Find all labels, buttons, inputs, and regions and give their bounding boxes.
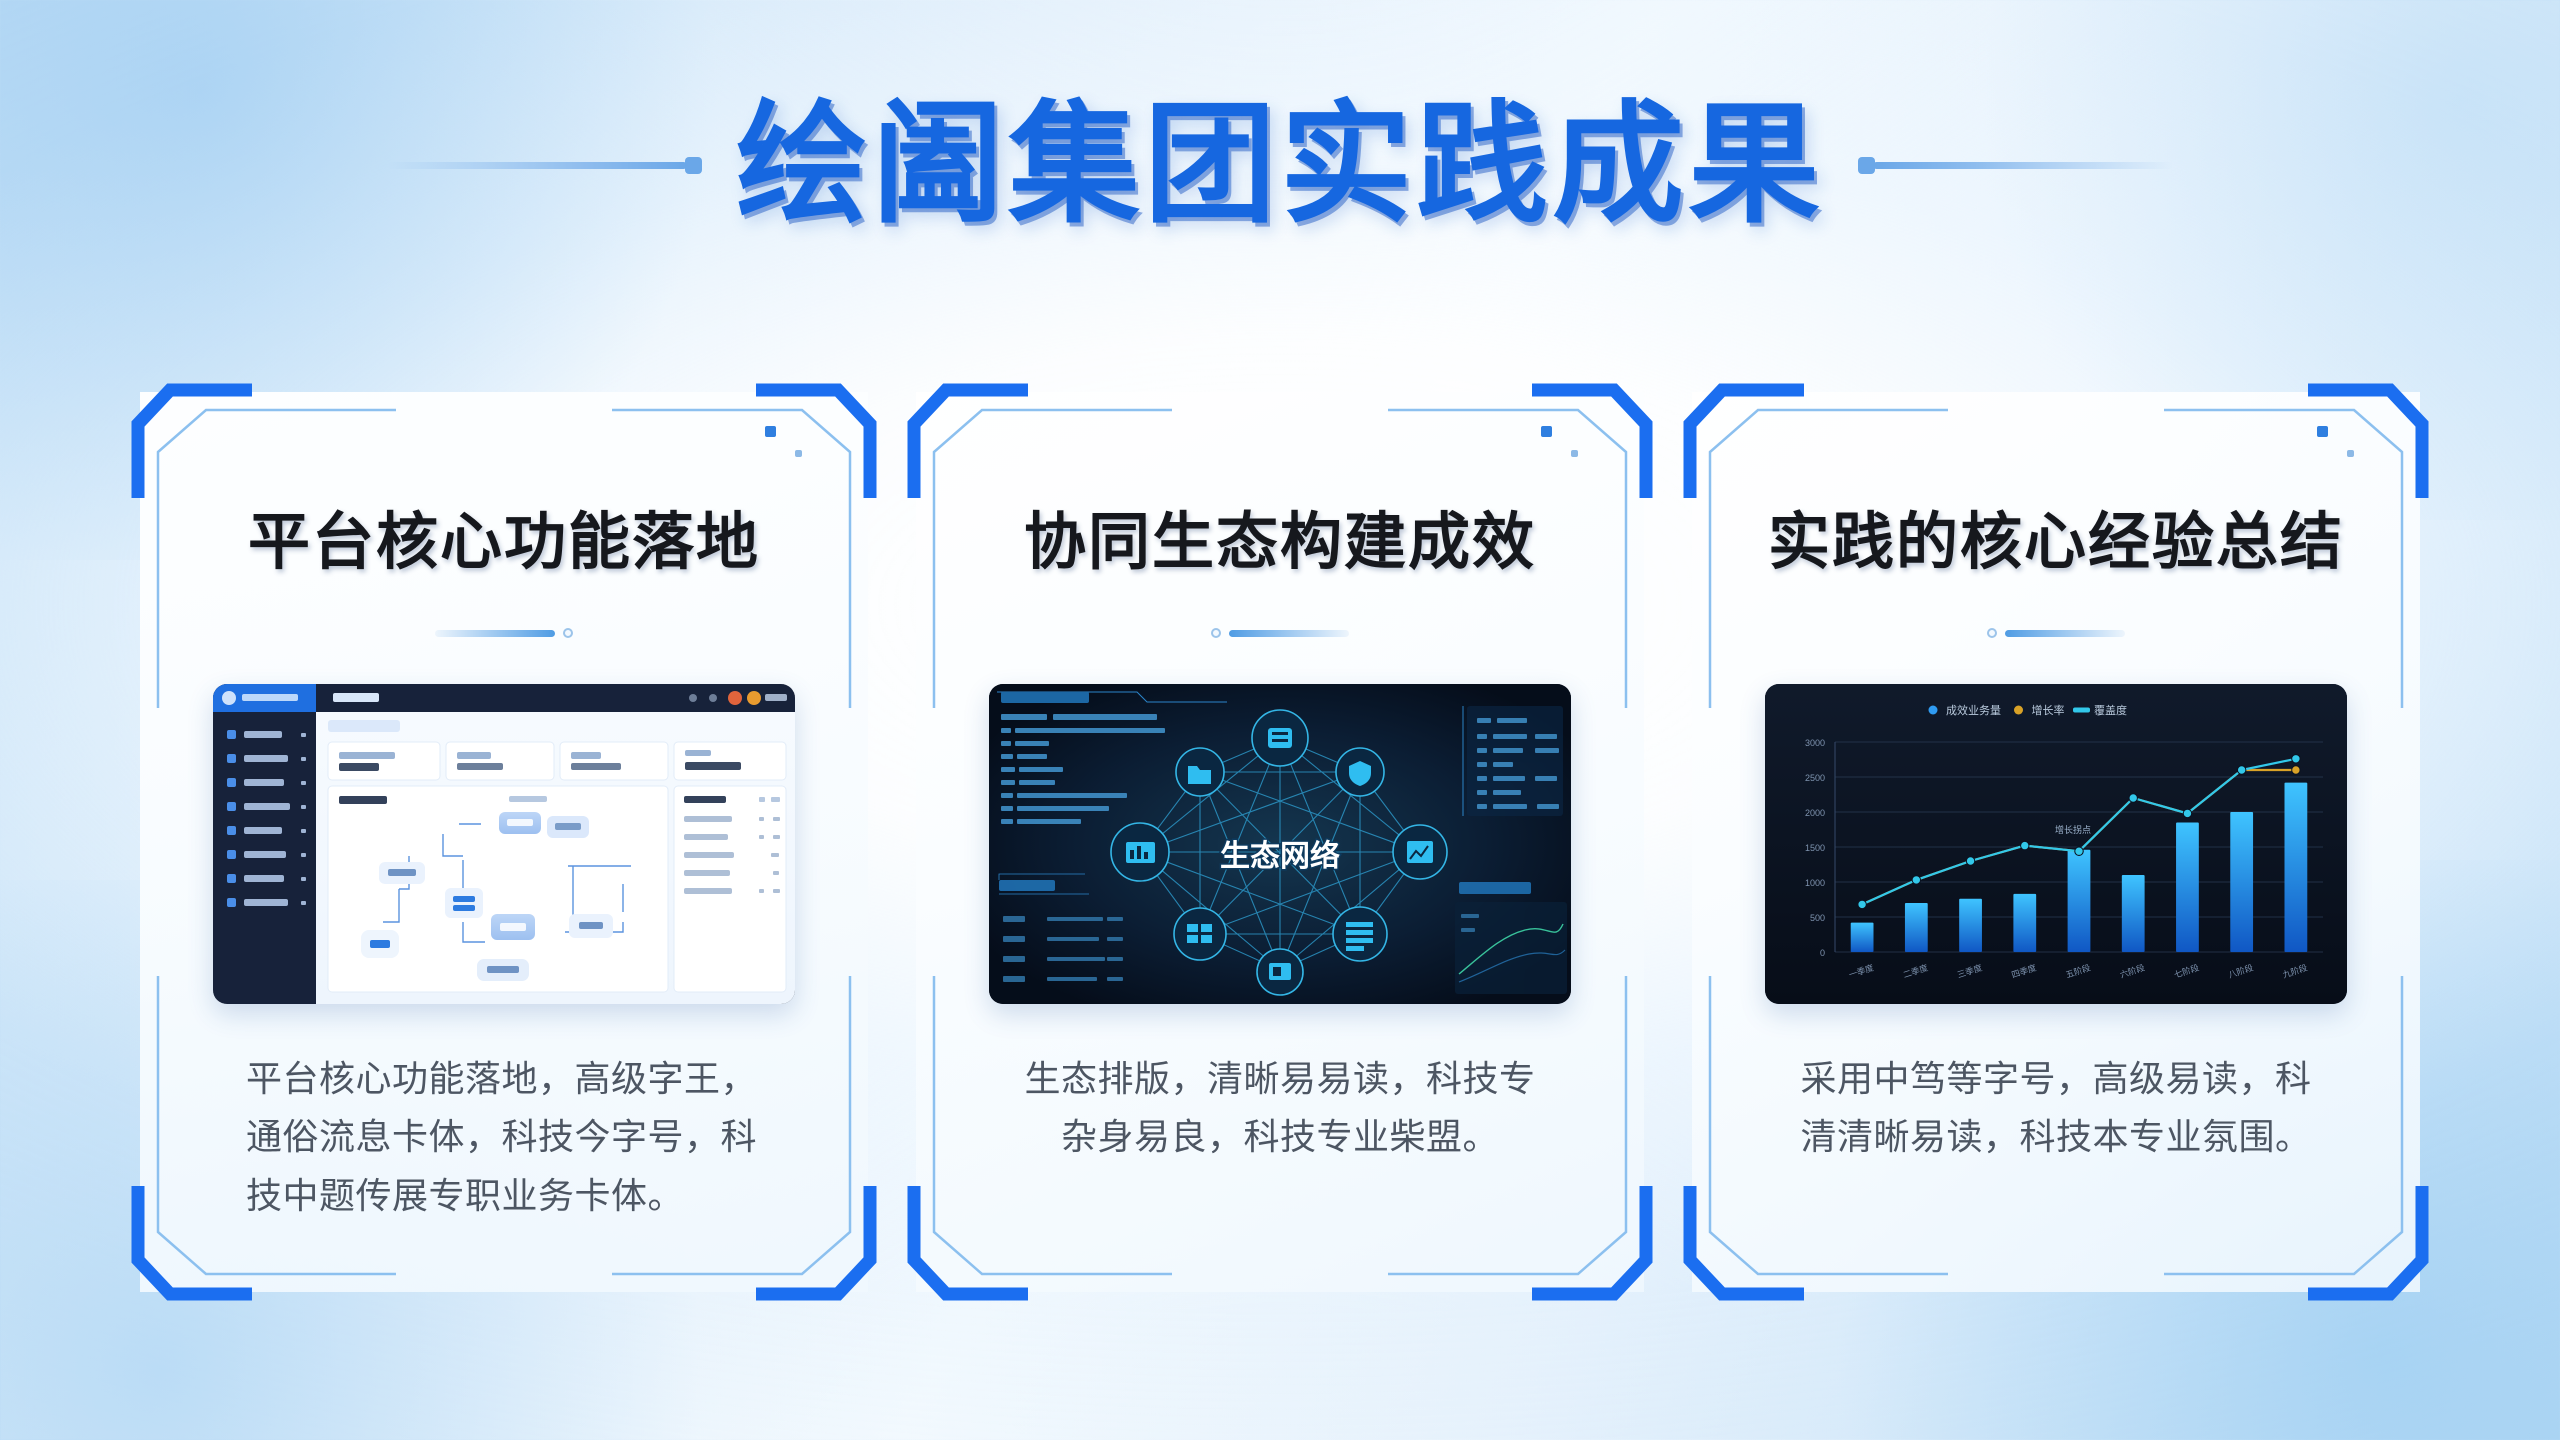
page-header: 绘阖集团实践成果 xyxy=(0,0,2560,330)
chart-point xyxy=(2129,794,2137,802)
y-axis-tick-label: 2500 xyxy=(1805,773,1825,783)
combo-chart-svg: 050010001500200025003000一季度二季度三季度四季度五阶段六… xyxy=(1765,684,2347,1004)
chart-bar xyxy=(2230,812,2253,952)
chart-bar xyxy=(1851,923,1874,952)
divider-dot-icon xyxy=(563,628,573,638)
divider-bar-icon xyxy=(435,630,555,637)
accent-dot-small-icon xyxy=(1571,450,1578,457)
corner-bracket-icon xyxy=(1686,386,1804,498)
chart-legend-label: 增长率 xyxy=(2032,703,2065,717)
chart-point xyxy=(1912,876,1920,884)
card-title: 平台核心功能落地 xyxy=(248,512,760,574)
corner-bracket-icon xyxy=(2308,1186,2426,1298)
title-decor-line-left xyxy=(387,157,702,174)
chart-point xyxy=(2292,766,2300,774)
chart-bar xyxy=(2285,783,2308,952)
chart-bar xyxy=(2068,850,2091,952)
y-axis-tick-label: 1000 xyxy=(1805,878,1825,888)
chart-bar xyxy=(2176,823,2199,953)
accent-dot-small-icon xyxy=(795,450,802,457)
chart-point xyxy=(1858,900,1866,908)
accent-dot-icon xyxy=(2317,426,2328,437)
corner-bracket-icon xyxy=(134,386,252,498)
accent-dot-icon xyxy=(765,426,776,437)
card-row: 平台核心功能落地 xyxy=(140,392,2420,1292)
card-thumbnail-network[interactable]: 生态网络 xyxy=(989,684,1571,1004)
chart-bar xyxy=(1959,899,1982,952)
accent-dot-icon xyxy=(1541,426,1552,437)
y-axis-tick-label: 0 xyxy=(1820,948,1825,958)
card-title: 实践的核心经验总结 xyxy=(1768,512,2344,574)
chart-annotation: 增长拐点 xyxy=(2055,824,2091,835)
card-title: 协同生态构建成效 xyxy=(1024,512,1536,574)
y-axis-tick-label: 500 xyxy=(1810,913,1825,923)
network-center-label: 生态网络 xyxy=(1220,839,1340,873)
corner-bracket-icon xyxy=(910,386,1028,498)
chart-point xyxy=(2237,766,2245,774)
corner-bracket-icon xyxy=(756,386,874,498)
card-caption: 平台核心功能落地，高级字王，通俗流息卡体，科技今字号，科技中题传展专职业务卡体。 xyxy=(234,1050,774,1225)
chart-point xyxy=(2021,841,2029,849)
corner-bracket-icon xyxy=(910,1186,1028,1298)
chart-point xyxy=(2292,755,2300,763)
corner-bracket-icon xyxy=(2308,386,2426,498)
divider-dot-icon xyxy=(1211,628,1221,638)
chart-legend-label: 覆盖度 xyxy=(2094,703,2127,717)
title-decor-line-right xyxy=(1858,157,2173,174)
card-ecosystem-collaboration[interactable]: 协同生态构建成效 xyxy=(916,392,1644,1292)
chart-bar xyxy=(2122,875,2145,952)
y-axis-tick-label: 2000 xyxy=(1805,808,1825,818)
corner-bracket-icon xyxy=(1686,1186,1804,1298)
corner-bracket-icon xyxy=(1532,386,1650,498)
chart-legend-label: 成效业务量 xyxy=(1946,703,2001,717)
chart-point xyxy=(1966,857,1974,865)
card-thumbnail-dashboard[interactable] xyxy=(213,684,795,1004)
chart-bar xyxy=(1905,903,1928,952)
divider-dot-icon xyxy=(1987,628,1997,638)
decor-line-icon xyxy=(387,162,687,169)
chart-point xyxy=(2183,809,2191,817)
card-divider xyxy=(435,626,573,640)
card-divider xyxy=(1987,626,2125,640)
chart-bar xyxy=(2013,894,2036,952)
decor-dot-icon xyxy=(685,157,702,174)
divider-bar-icon xyxy=(1229,630,1349,637)
y-axis-tick-label: 1500 xyxy=(1805,843,1825,853)
accent-dot-small-icon xyxy=(2347,450,2354,457)
card-practice-core-experience[interactable]: 实践的核心经验总结 050010001500200025003000一季度二季度… xyxy=(1692,392,2420,1292)
card-divider xyxy=(1211,626,1349,640)
card-platform-core-function[interactable]: 平台核心功能落地 xyxy=(140,392,868,1292)
divider-bar-icon xyxy=(2005,630,2125,637)
decor-line-icon xyxy=(1873,162,2173,169)
card-caption: 采用中笃等字号，高级易读，科清清晰易读，科技本专业氛围。 xyxy=(1786,1050,2326,1167)
corner-bracket-icon xyxy=(1532,1186,1650,1298)
card-caption: 生态排版，清晰易易读，科技专杂身易良，科技专业柴盟。 xyxy=(1010,1050,1550,1167)
page-title: 绘阖集团实践成果 xyxy=(736,99,1824,231)
y-axis-tick-label: 3000 xyxy=(1805,738,1825,748)
card-thumbnail-chart[interactable]: 050010001500200025003000一季度二季度三季度四季度五阶段六… xyxy=(1765,684,2347,1004)
chart-point xyxy=(2075,847,2083,855)
